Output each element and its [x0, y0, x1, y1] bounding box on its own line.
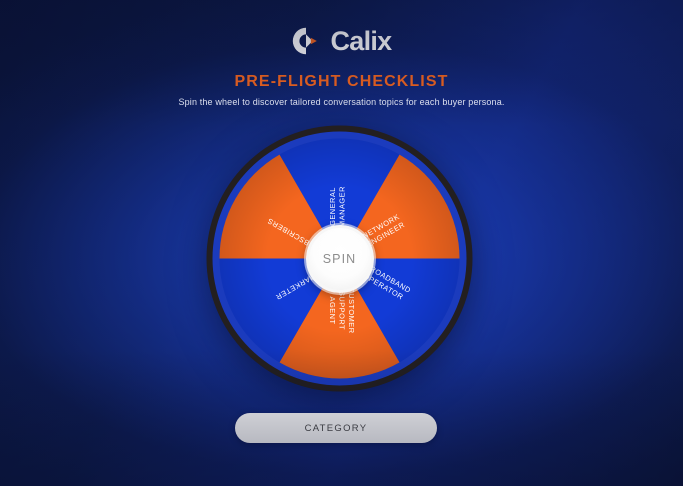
- page-title: PRE-FLIGHT CHECKLIST: [0, 73, 683, 91]
- spin-button-label: SPIN: [323, 252, 357, 266]
- calix-logo-icon: [291, 26, 321, 56]
- wheel-label-line: GENERAL: [328, 187, 337, 226]
- brand-logo: Calix: [0, 26, 683, 56]
- wheel-label-line: AGENT: [328, 297, 337, 325]
- page-background: Calix PRE-FLIGHT CHECKLIST Spin the whee…: [0, 0, 683, 486]
- wheel-label-line: MANAGER: [337, 186, 346, 227]
- spin-wheel[interactable]: GENERALMANAGERNETWORKENGINEERBROADBANDOP…: [205, 124, 474, 393]
- page-subtitle: Spin the wheel to discover tailored conv…: [0, 97, 683, 107]
- spin-button[interactable]: SPIN: [306, 225, 374, 293]
- category-button[interactable]: CATEGORY: [235, 413, 437, 443]
- wheel-label-line: SUPPORT: [338, 291, 347, 330]
- brand-name: Calix: [330, 28, 391, 55]
- wheel-label-line: CUSTOMER: [347, 287, 356, 333]
- wheel-segment-label: GENERALMANAGER: [328, 186, 347, 227]
